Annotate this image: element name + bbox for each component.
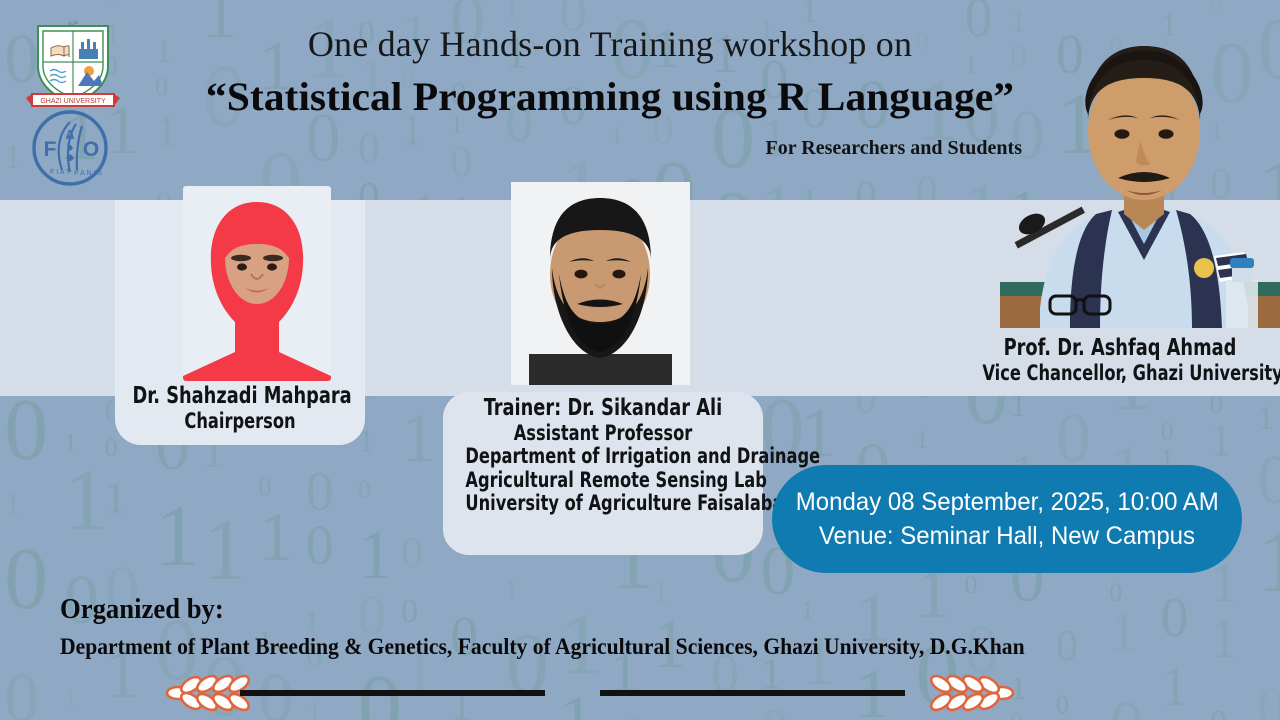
title-line-1: One day Hands-on Training workshop on <box>150 24 1070 65</box>
ornament-line-right <box>600 690 905 696</box>
fao-letter-f: F <box>44 138 57 161</box>
organizer-block: Organized by: Department of Plant Breedi… <box>60 592 1260 662</box>
fao-letter-a: A <box>65 127 75 142</box>
trainer-affiliation-3: University of Agriculture Faisalabad <box>465 492 740 516</box>
trainer-text: Trainer: Dr. Sikandar Ali Assistant Prof… <box>443 396 763 516</box>
vice-chancellor-text: Prof. Dr. Ashfaq Ahmad Vice Chancellor, … <box>960 336 1280 385</box>
ornament-line-left <box>240 690 545 696</box>
event-venue: Venue: Seminar Hall, New Campus <box>819 519 1195 553</box>
chairperson-text: Dr. Shahzadi Mahpara Chairperson <box>115 384 365 433</box>
organizer-heading: Organized by: <box>60 592 1164 627</box>
chairperson-role: Chairperson <box>133 410 348 434</box>
fao-letter-o: O <box>83 138 99 161</box>
workshop-poster: 0101101001100101101001011010010110100110… <box>0 0 1280 720</box>
wheat-ornament-right <box>929 673 1013 713</box>
vice-chancellor-name: Prof. Dr. Ashfaq Ahmad <box>982 336 1257 362</box>
crest-ribbon-text: GHAZI UNIVERSITY <box>40 98 106 105</box>
crest-ribbon: GHAZI UNIVERSITY <box>26 94 120 106</box>
bottom-ornament <box>0 668 1280 718</box>
svg-text:غازی: غازی <box>68 20 79 26</box>
organizer-body: Department of Plant Breeding & Genetics,… <box>60 633 1188 662</box>
chairperson-name: Dr. Shahzadi Mahpara <box>133 384 348 410</box>
trainer-affiliation-2: Agricultural Remote Sensing Lab <box>465 469 740 493</box>
trainer-affiliation-1: Department of Irrigation and Drainage <box>465 445 740 469</box>
fao-motto-right: P A N I S <box>74 170 102 177</box>
title-block: One day Hands-on Training workshop on “S… <box>150 24 1070 160</box>
event-datetime: Monday 08 September, 2025, 10:00 AM <box>796 485 1219 519</box>
trainer-photo <box>511 182 690 385</box>
fao-logo: F A O F I A T P A N I S <box>28 108 112 188</box>
wheat-ornament-left <box>167 673 251 713</box>
fao-motto-left: F I A T <box>50 169 71 176</box>
trainer-name: Trainer: Dr. Sikandar Ali <box>465 396 740 422</box>
title-line-2: “Statistical Programming using R Languag… <box>132 71 1089 123</box>
trainer-role: Assistant Professor <box>465 422 740 446</box>
building-icon <box>79 39 98 59</box>
chairperson-photo <box>183 186 331 381</box>
title-subtitle: For Researchers and Students <box>150 137 1070 160</box>
vice-chancellor-role: Vice Chancellor, Ghazi University <box>982 362 1257 386</box>
ghazi-university-crest-logo: GHAZI UNIVERSITY غازی <box>26 14 120 110</box>
event-datetime-venue-badge: Monday 08 September, 2025, 10:00 AM Venu… <box>772 465 1242 573</box>
